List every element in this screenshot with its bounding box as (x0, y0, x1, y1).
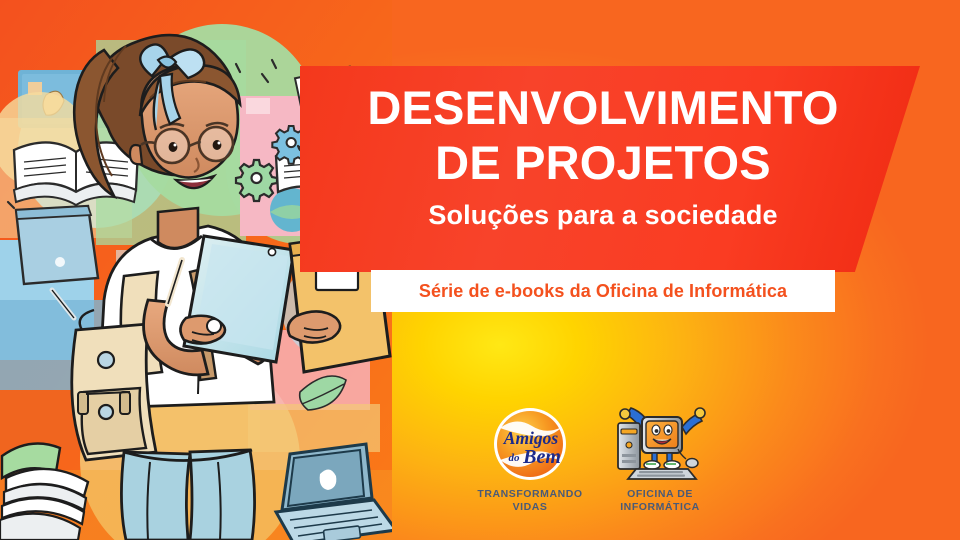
svg-text:Amigos: Amigos (503, 428, 559, 448)
amigos-do-bem-globe-logo: Amigos do Bem (474, 405, 586, 483)
slide-canvas: DESENVOLVIMENTO DE PROJETOS Soluções par… (0, 0, 960, 540)
logo-caption-amigos-do-bem: TRANSFORMANDO VIDAS (474, 488, 586, 515)
logo-oficina-de-informatica: OFICINA DE INFORMÁTICA (604, 405, 716, 515)
svg-text:do: do (509, 452, 521, 464)
oficina-de-informatica-computer-mascot-logo (604, 405, 716, 483)
title-block: DESENVOLVIMENTO DE PROJETOS Soluções par… (348, 80, 858, 231)
logo-row: Amigos do Bem TRANSFORMANDO VIDAS (470, 405, 720, 535)
logo-caption-oficina-de-informatica: OFICINA DE INFORMÁTICA (604, 488, 716, 515)
svg-text:Bem: Bem (522, 446, 561, 468)
series-strip: Série de e-books da Oficina de Informáti… (371, 270, 835, 312)
headline-line-2: DE PROJETOS (348, 135, 858, 190)
series-strip-text: Série de e-books da Oficina de Informáti… (419, 281, 787, 302)
headline-subtitle: Soluções para a sociedade (348, 200, 858, 231)
logo-amigos-do-bem: Amigos do Bem TRANSFORMANDO VIDAS (474, 405, 586, 515)
headline-line-1: DESENVOLVIMENTO (348, 80, 858, 135)
